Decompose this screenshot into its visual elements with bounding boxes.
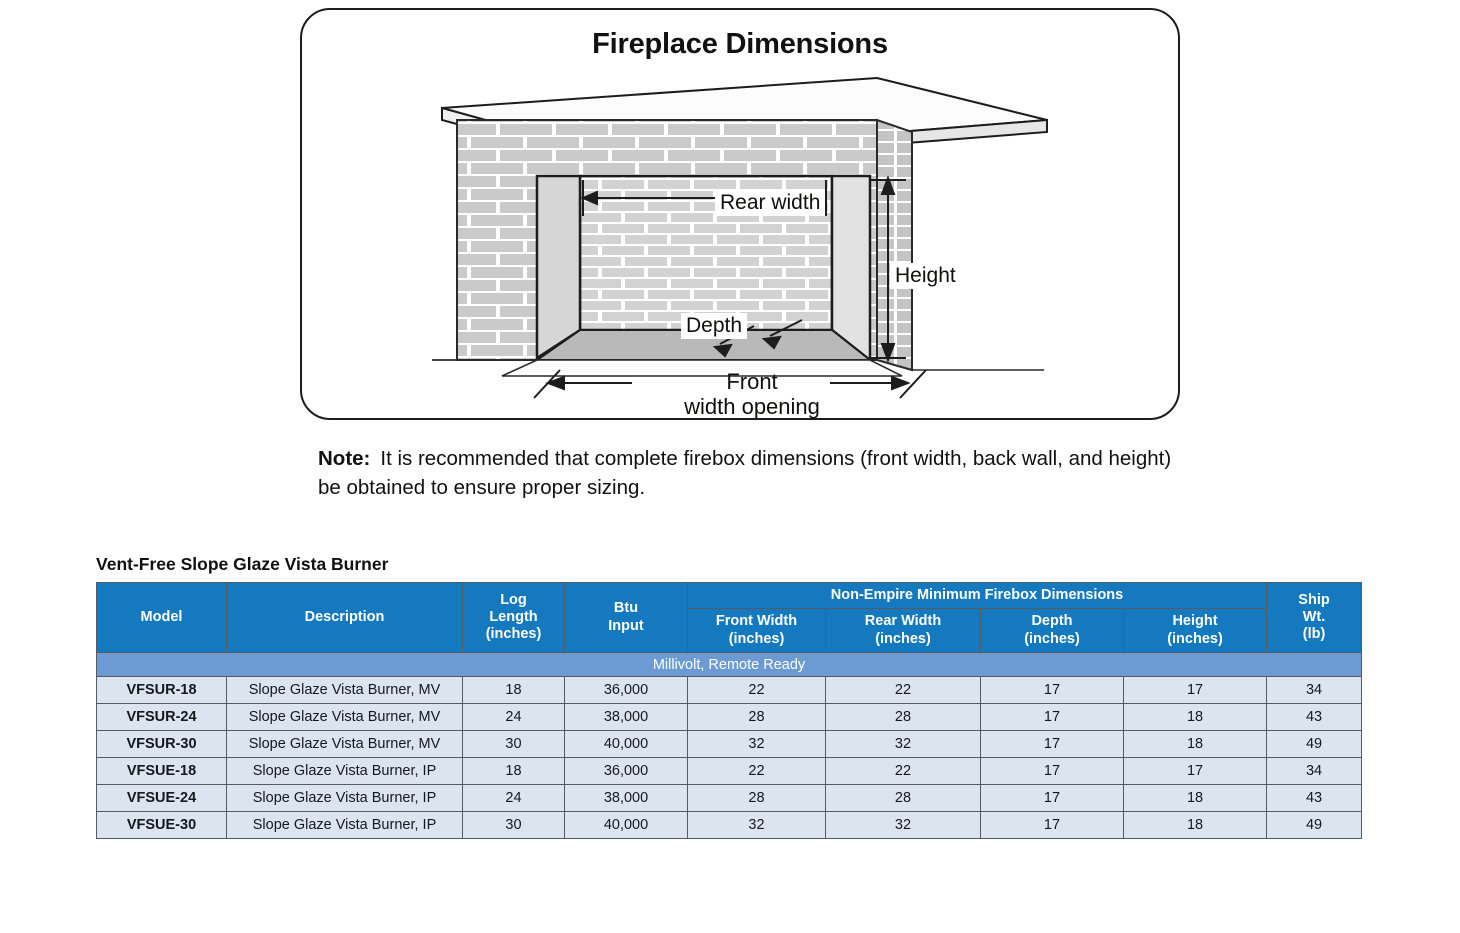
note-block: Note: It is recommended that complete fi… <box>318 444 1198 502</box>
cell-rear-width: 32 <box>826 812 981 839</box>
cell-height: 18 <box>1124 812 1267 839</box>
rear-width-line1: Rear Width <box>826 613 980 630</box>
cell-rear-width: 22 <box>826 758 981 785</box>
col-header-description: Description <box>227 583 463 653</box>
cell-btu-input: 40,000 <box>565 731 688 758</box>
cell-front-width: 28 <box>688 785 826 812</box>
table-body: Millivolt, Remote Ready VFSUR-18Slope Gl… <box>97 653 1362 839</box>
cell-btu-input: 38,000 <box>565 785 688 812</box>
cell-description: Slope Glaze Vista Burner, MV <box>227 677 463 704</box>
rear-width-line2: (inches) <box>826 631 980 648</box>
cell-log-length: 30 <box>463 812 565 839</box>
cell-btu-input: 36,000 <box>565 758 688 785</box>
label-depth: Depth <box>681 313 747 339</box>
label-height: Height <box>890 263 961 289</box>
cell-model: VFSUE-18 <box>97 758 227 785</box>
cell-btu-input: 40,000 <box>565 812 688 839</box>
cell-front-width: 22 <box>688 677 826 704</box>
label-rear-width: Rear width <box>715 190 825 216</box>
label-front-width-opening: Front width opening <box>632 368 872 421</box>
ship-line3: (lb) <box>1267 626 1361 643</box>
cell-depth: 17 <box>981 677 1124 704</box>
ship-line1: Ship <box>1267 592 1361 609</box>
cell-ship-wt: 34 <box>1267 677 1362 704</box>
note-text: It is recommended that complete firebox … <box>318 447 1171 499</box>
cell-depth: 17 <box>981 704 1124 731</box>
cell-front-width: 22 <box>688 758 826 785</box>
height-line1: Height <box>1124 613 1266 630</box>
cell-height: 17 <box>1124 677 1267 704</box>
cell-height: 18 <box>1124 785 1267 812</box>
label-front-line2: width opening <box>637 394 867 419</box>
cell-ship-wt: 43 <box>1267 704 1362 731</box>
col-header-log-length: Log Length (inches) <box>463 583 565 653</box>
table-header: Model Description Log Length (inches) Bt… <box>97 583 1362 653</box>
cell-description: Slope Glaze Vista Burner, MV <box>227 731 463 758</box>
table-row: VFSUE-18Slope Glaze Vista Burner, IP1836… <box>97 758 1362 785</box>
cell-model: VFSUR-30 <box>97 731 227 758</box>
front-width-line1: Front Width <box>688 613 825 630</box>
fireplace-dimensions-panel: Fireplace Dimensions <box>300 8 1180 420</box>
log-length-line1: Log <box>463 592 564 609</box>
cell-description: Slope Glaze Vista Burner, IP <box>227 785 463 812</box>
cell-model: VFSUR-24 <box>97 704 227 731</box>
cell-height: 18 <box>1124 704 1267 731</box>
cell-rear-width: 32 <box>826 731 981 758</box>
cell-description: Slope Glaze Vista Burner, MV <box>227 704 463 731</box>
firebox-left-wall <box>537 176 580 358</box>
spec-table: Model Description Log Length (inches) Bt… <box>96 582 1362 839</box>
header-row-group: Model Description Log Length (inches) Bt… <box>97 583 1362 609</box>
cell-ship-wt: 43 <box>1267 785 1362 812</box>
cell-log-length: 30 <box>463 731 565 758</box>
group-label: Millivolt, Remote Ready <box>97 653 1362 677</box>
cell-log-length: 24 <box>463 704 565 731</box>
btu-line2: Input <box>565 618 687 635</box>
cell-ship-wt: 49 <box>1267 731 1362 758</box>
cell-log-length: 18 <box>463 758 565 785</box>
cell-log-length: 24 <box>463 785 565 812</box>
cell-height: 17 <box>1124 758 1267 785</box>
firebox-right-wall <box>832 176 870 360</box>
log-length-line3: (inches) <box>463 626 564 643</box>
cell-height: 18 <box>1124 731 1267 758</box>
log-length-line2: Length <box>463 609 564 626</box>
cell-description: Slope Glaze Vista Burner, IP <box>227 758 463 785</box>
fireplace-side-wall <box>877 120 912 370</box>
front-width-line2: (inches) <box>688 631 825 648</box>
cell-ship-wt: 34 <box>1267 758 1362 785</box>
cell-log-length: 18 <box>463 677 565 704</box>
table-row: VFSUR-24Slope Glaze Vista Burner, MV2438… <box>97 704 1362 731</box>
table-group-row: Millivolt, Remote Ready <box>97 653 1362 677</box>
cell-front-width: 28 <box>688 704 826 731</box>
col-header-height: Height (inches) <box>1124 609 1267 653</box>
fireplace-illustration <box>302 58 1182 418</box>
cell-model: VFSUE-30 <box>97 812 227 839</box>
table-row: VFSUE-30Slope Glaze Vista Burner, IP3040… <box>97 812 1362 839</box>
table-row: VFSUE-24Slope Glaze Vista Burner, IP2438… <box>97 785 1362 812</box>
depth-line1: Depth <box>981 613 1123 630</box>
cell-model: VFSUR-18 <box>97 677 227 704</box>
cell-front-width: 32 <box>688 731 826 758</box>
note-label: Note: <box>318 444 370 473</box>
height-line2: (inches) <box>1124 631 1266 648</box>
cell-depth: 17 <box>981 731 1124 758</box>
cell-rear-width: 28 <box>826 785 981 812</box>
cell-rear-width: 22 <box>826 677 981 704</box>
diagram-title: Fireplace Dimensions <box>302 28 1178 61</box>
cell-ship-wt: 49 <box>1267 812 1362 839</box>
cell-depth: 17 <box>981 758 1124 785</box>
col-header-firebox-group: Non-Empire Minimum Firebox Dimensions <box>688 583 1267 609</box>
col-header-model: Model <box>97 583 227 653</box>
table-row: VFSUR-30Slope Glaze Vista Burner, MV3040… <box>97 731 1362 758</box>
cell-rear-width: 28 <box>826 704 981 731</box>
table-title: Vent-Free Slope Glaze Vista Burner <box>96 554 388 575</box>
depth-line2: (inches) <box>981 631 1123 648</box>
cell-model: VFSUE-24 <box>97 785 227 812</box>
ship-line2: Wt. <box>1267 609 1361 626</box>
cell-front-width: 32 <box>688 812 826 839</box>
cell-depth: 17 <box>981 812 1124 839</box>
col-header-btu-input: Btu Input <box>565 583 688 653</box>
col-header-front-width: Front Width (inches) <box>688 609 826 653</box>
col-header-depth: Depth (inches) <box>981 609 1124 653</box>
btu-line1: Btu <box>565 600 687 617</box>
table-row: VFSUR-18Slope Glaze Vista Burner, MV1836… <box>97 677 1362 704</box>
page-root: Fireplace Dimensions <box>0 0 1460 933</box>
label-front-line1: Front <box>637 369 867 394</box>
cell-depth: 17 <box>981 785 1124 812</box>
col-header-rear-width: Rear Width (inches) <box>826 609 981 653</box>
col-header-ship-weight: Ship Wt. (lb) <box>1267 583 1362 653</box>
cell-btu-input: 38,000 <box>565 704 688 731</box>
cell-btu-input: 36,000 <box>565 677 688 704</box>
cell-description: Slope Glaze Vista Burner, IP <box>227 812 463 839</box>
